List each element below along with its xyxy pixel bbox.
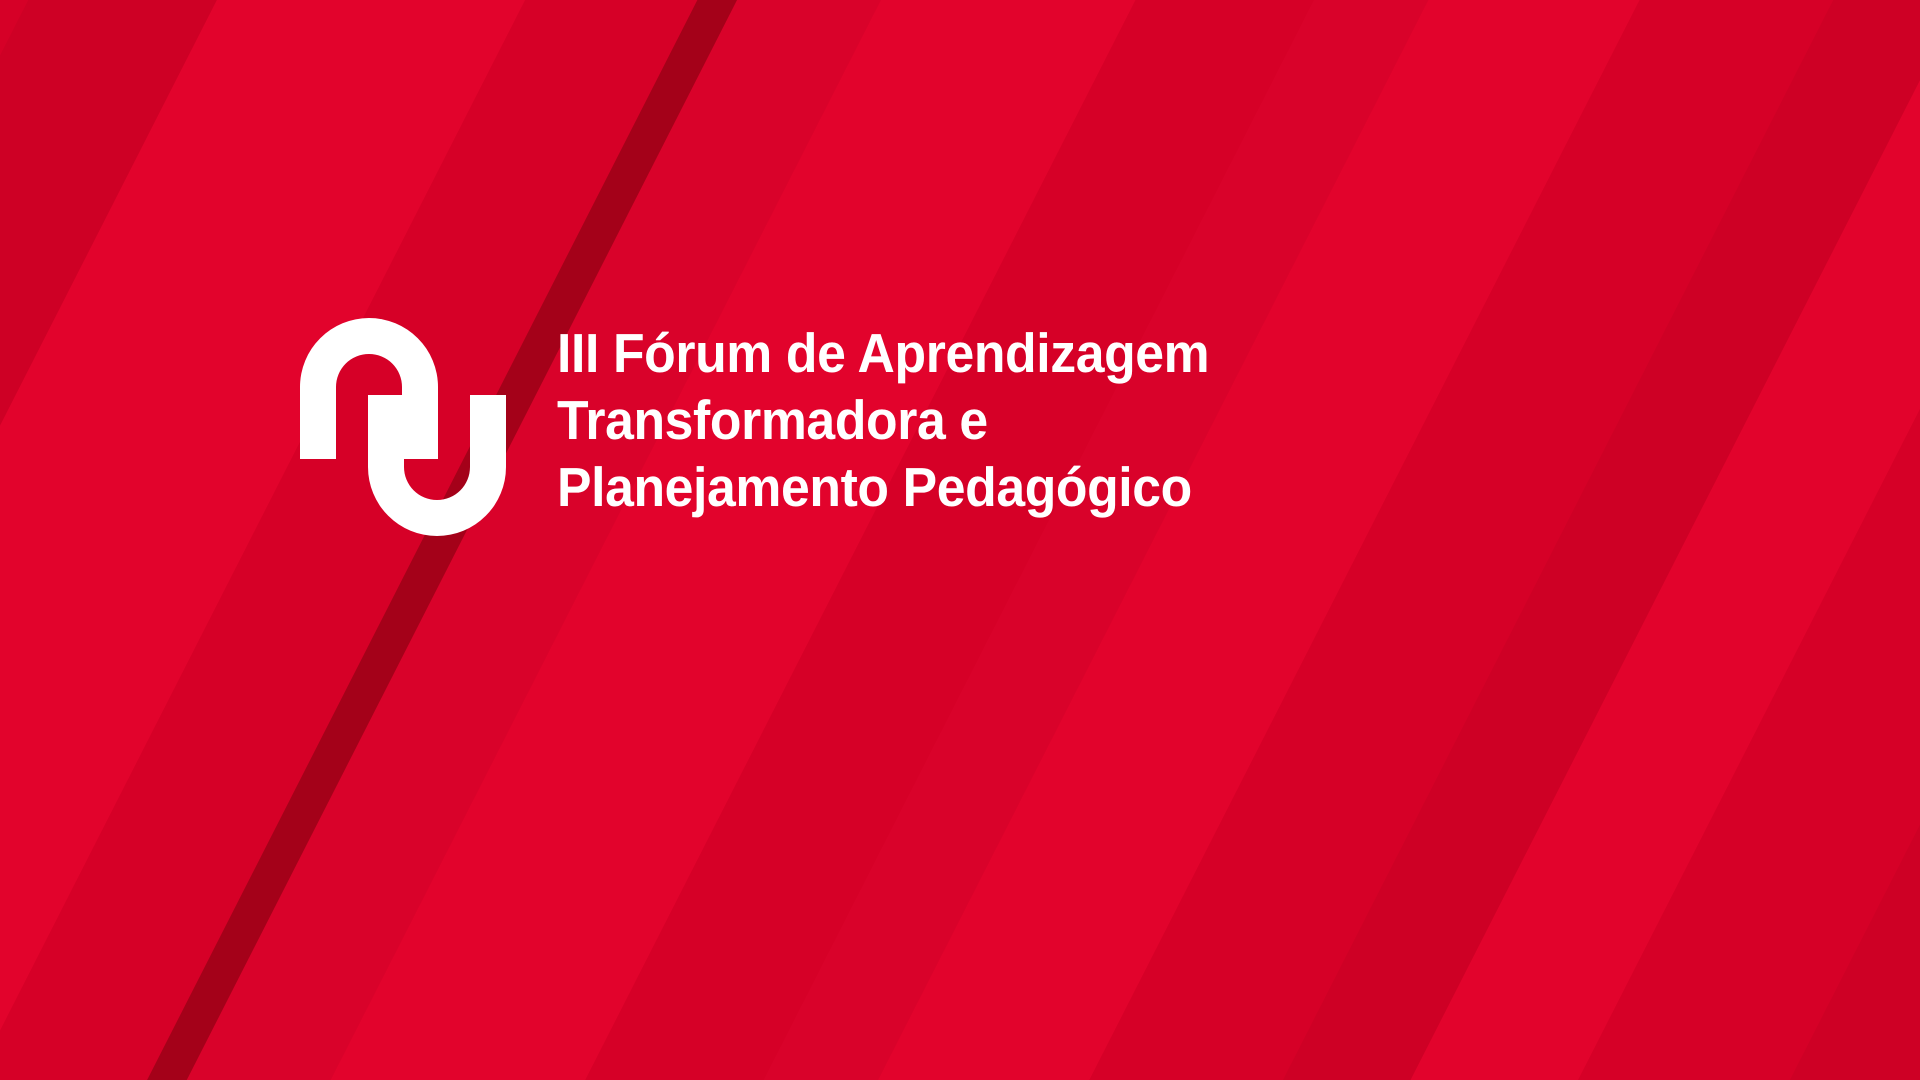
stripe-tone-left-far <box>0 0 281 1080</box>
title-line-3: Planejamento Pedagógico <box>557 454 1619 521</box>
stripe-tone-right-d <box>1338 0 1920 1080</box>
stripe-tone-mid-b <box>133 0 1564 1080</box>
stripe-base-left <box>0 0 771 1080</box>
stripe-base-right-b <box>958 0 1920 1080</box>
stripe-tone-right-a <box>639 0 1920 1080</box>
title-slide: III Fórum de Aprendizagem Transformadora… <box>0 0 1920 1080</box>
title-line-2: Transformadora e <box>557 387 1619 454</box>
stripe-tone-right-e <box>1522 0 1920 1080</box>
stripe-base-right-a <box>430 0 1892 1080</box>
stripe-tone-right-c <box>1130 0 1920 1080</box>
stripe-tone-left-inner <box>0 0 943 1080</box>
stripe-base-mid <box>0 0 1385 1080</box>
stripe-tone-right-b <box>826 0 1920 1080</box>
background-stripes <box>0 0 1920 1080</box>
page-title: III Fórum de Aprendizagem Transformadora… <box>557 320 1687 521</box>
stripe-tone-mid-a <box>0 0 1140 1080</box>
stripe-tone-mid-c <box>305 0 1687 1080</box>
title-line-1: III Fórum de Aprendizagem <box>557 320 1619 387</box>
nu-monogram-logo <box>298 316 508 538</box>
stripe-accent-dark <box>0 0 996 1080</box>
stripe-tone-left-outer <box>0 0 477 1080</box>
